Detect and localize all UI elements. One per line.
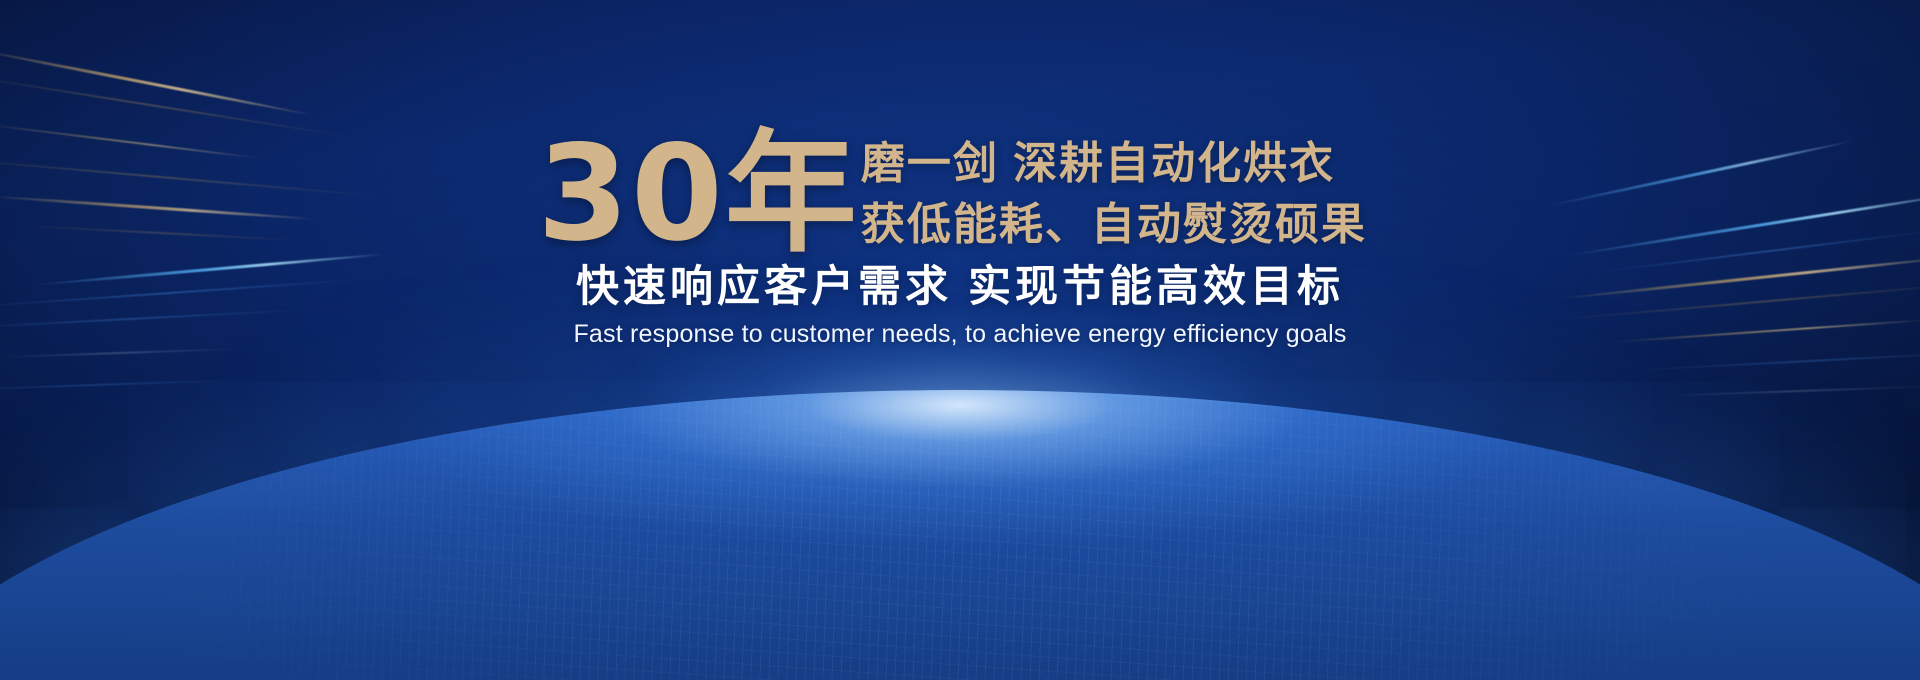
anniversary-number: 30年 — [537, 130, 857, 259]
headline-chinese: 快速响应客户需求 实现节能高效目标 — [0, 252, 1920, 314]
gold-slogan-line-2: 获低能耗、自动熨烫硕果 — [861, 199, 1367, 252]
gold-slogan-lines: 磨一剑 深耕自动化烘衣 获低能耗、自动熨烫硕果 — [861, 138, 1367, 252]
anniversary-number-value: 30 — [537, 117, 725, 271]
banner-content: 30年 磨一剑 深耕自动化烘衣 获低能耗、自动熨烫硕果 快速响应客户需求 实现节… — [0, 0, 1920, 680]
anniversary-headline-row: 30年 磨一剑 深耕自动化烘衣 获低能耗、自动熨烫硕果 — [0, 128, 1920, 259]
promo-banner: 30年 磨一剑 深耕自动化烘衣 获低能耗、自动熨烫硕果 快速响应客户需求 实现节… — [0, 0, 1920, 680]
anniversary-unit: 年 — [725, 117, 857, 271]
gold-slogan-line-1: 磨一剑 深耕自动化烘衣 — [861, 138, 1367, 191]
subtitle-english: Fast response to customer needs, to achi… — [0, 320, 1920, 349]
